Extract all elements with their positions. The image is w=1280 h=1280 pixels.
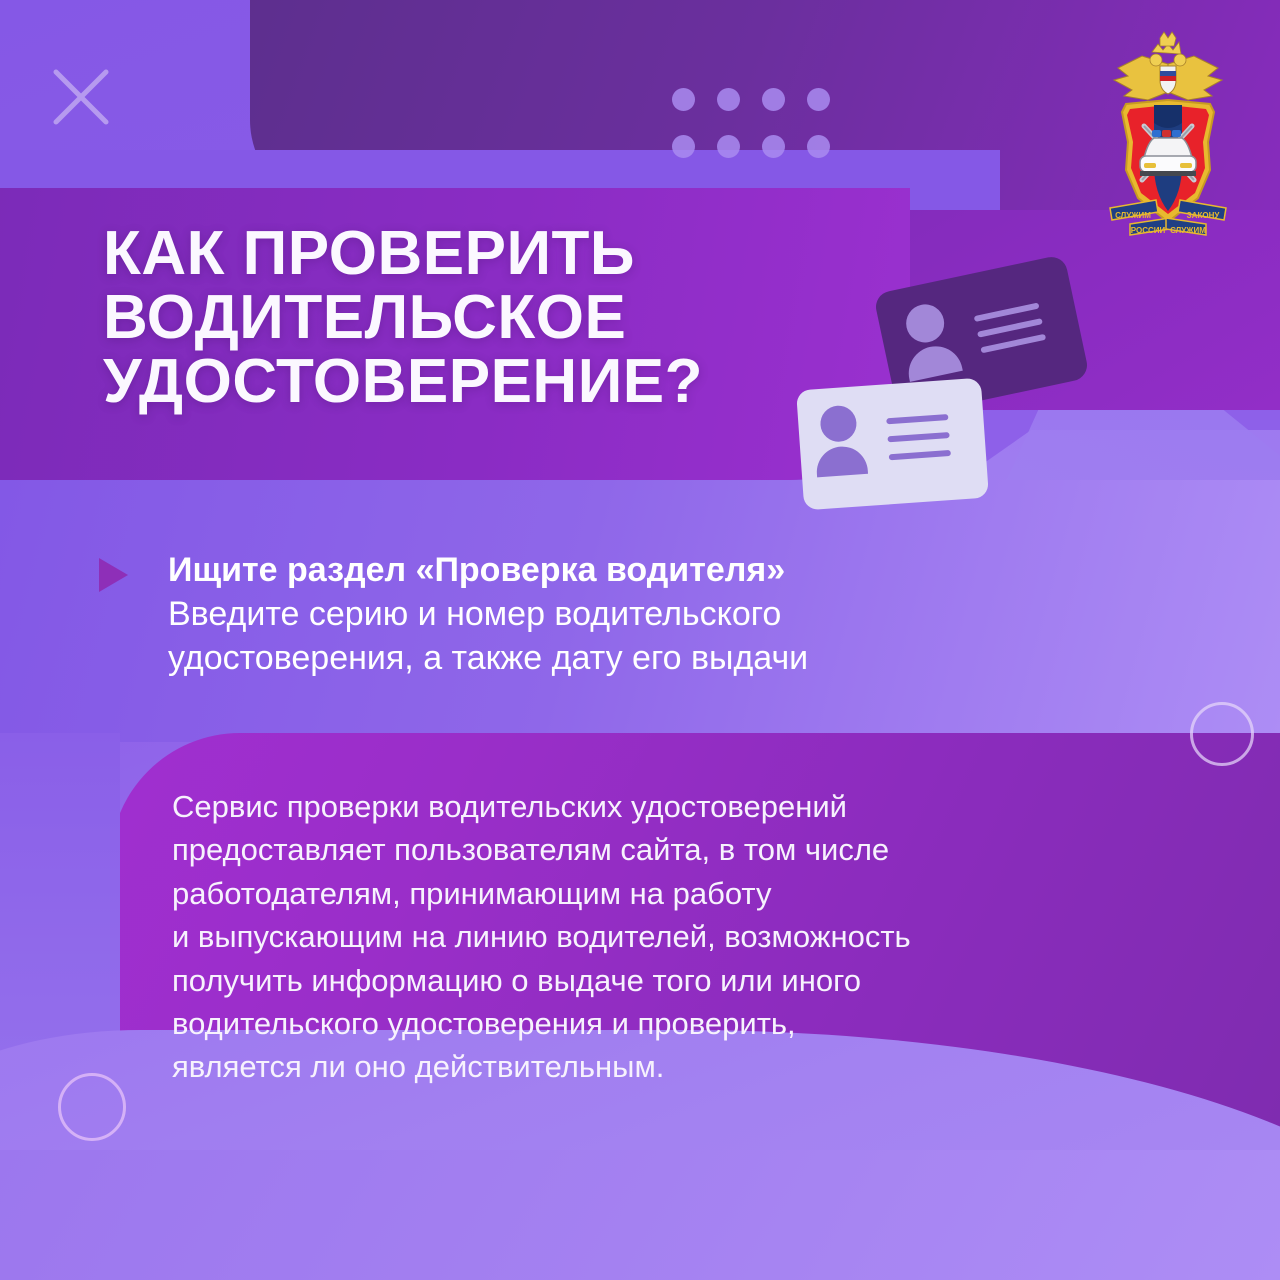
circle-outline-right-icon: [1190, 702, 1254, 766]
dot-grid-pattern: [672, 88, 852, 168]
dot: [762, 135, 785, 158]
body-line-3: работодателям, принимающим на работу: [172, 872, 1212, 915]
triangle-play-marker-icon: [99, 558, 128, 592]
step-line-1: Введите серию и номер водительского: [168, 592, 1168, 636]
dot: [672, 135, 695, 158]
emblem-motto-top-right: ЗАКОНУ: [1187, 211, 1221, 220]
emblem-motto-bottom-right: СЛУЖИМ: [1170, 226, 1206, 235]
step-heading: Ищите раздел «Проверка водителя»: [168, 548, 1168, 592]
close-x-icon: [52, 68, 110, 126]
page-title-line-3: УДОСТОВЕРЕНИЕ?: [103, 350, 863, 414]
circle-outline-left-icon: [58, 1073, 126, 1141]
step-instruction: Ищите раздел «Проверка водителя» Введите…: [168, 548, 1168, 681]
infographic-slide: СЛУЖИМ ЗАКОНУ РОССИИ СЛУЖИМ КАК ПРОВЕРИТ…: [0, 0, 1280, 1280]
dot: [717, 88, 740, 111]
page-title-line-2: ВОДИТЕЛЬСКОЕ: [103, 286, 863, 350]
background-bottom-strip: [0, 1150, 1280, 1280]
dot: [807, 135, 830, 158]
body-line-4: и выпускающим на линию водителей, возмож…: [172, 915, 1212, 958]
body-paragraph: Сервис проверки водительских удостоверен…: [172, 785, 1212, 1089]
page-title: КАК ПРОВЕРИТЬ ВОДИТЕЛЬСКОЕ УДОСТОВЕРЕНИЕ…: [103, 222, 863, 414]
body-line-2: предоставляет пользователям сайта, в том…: [172, 828, 1212, 871]
body-line-5: получить информацию о выдаче того или ин…: [172, 959, 1212, 1002]
body-line-7: является ли оно действительным.: [172, 1045, 1212, 1088]
gibdd-mvd-emblem: СЛУЖИМ ЗАКОНУ РОССИИ СЛУЖИМ: [1102, 30, 1234, 246]
emblem-motto-bottom-left: РОССИИ: [1131, 226, 1166, 235]
page-title-line-1: КАК ПРОВЕРИТЬ: [103, 222, 863, 286]
step-line-2: удостоверения, а также дату его выдачи: [168, 636, 1168, 680]
dot: [807, 88, 830, 111]
dot: [762, 88, 785, 111]
dot: [717, 135, 740, 158]
dot: [672, 88, 695, 111]
emblem-motto-top-left: СЛУЖИМ: [1115, 211, 1151, 220]
body-line-6: водительского удостоверения и проверить,: [172, 1002, 1212, 1045]
body-line-1: Сервис проверки водительских удостоверен…: [172, 785, 1212, 828]
